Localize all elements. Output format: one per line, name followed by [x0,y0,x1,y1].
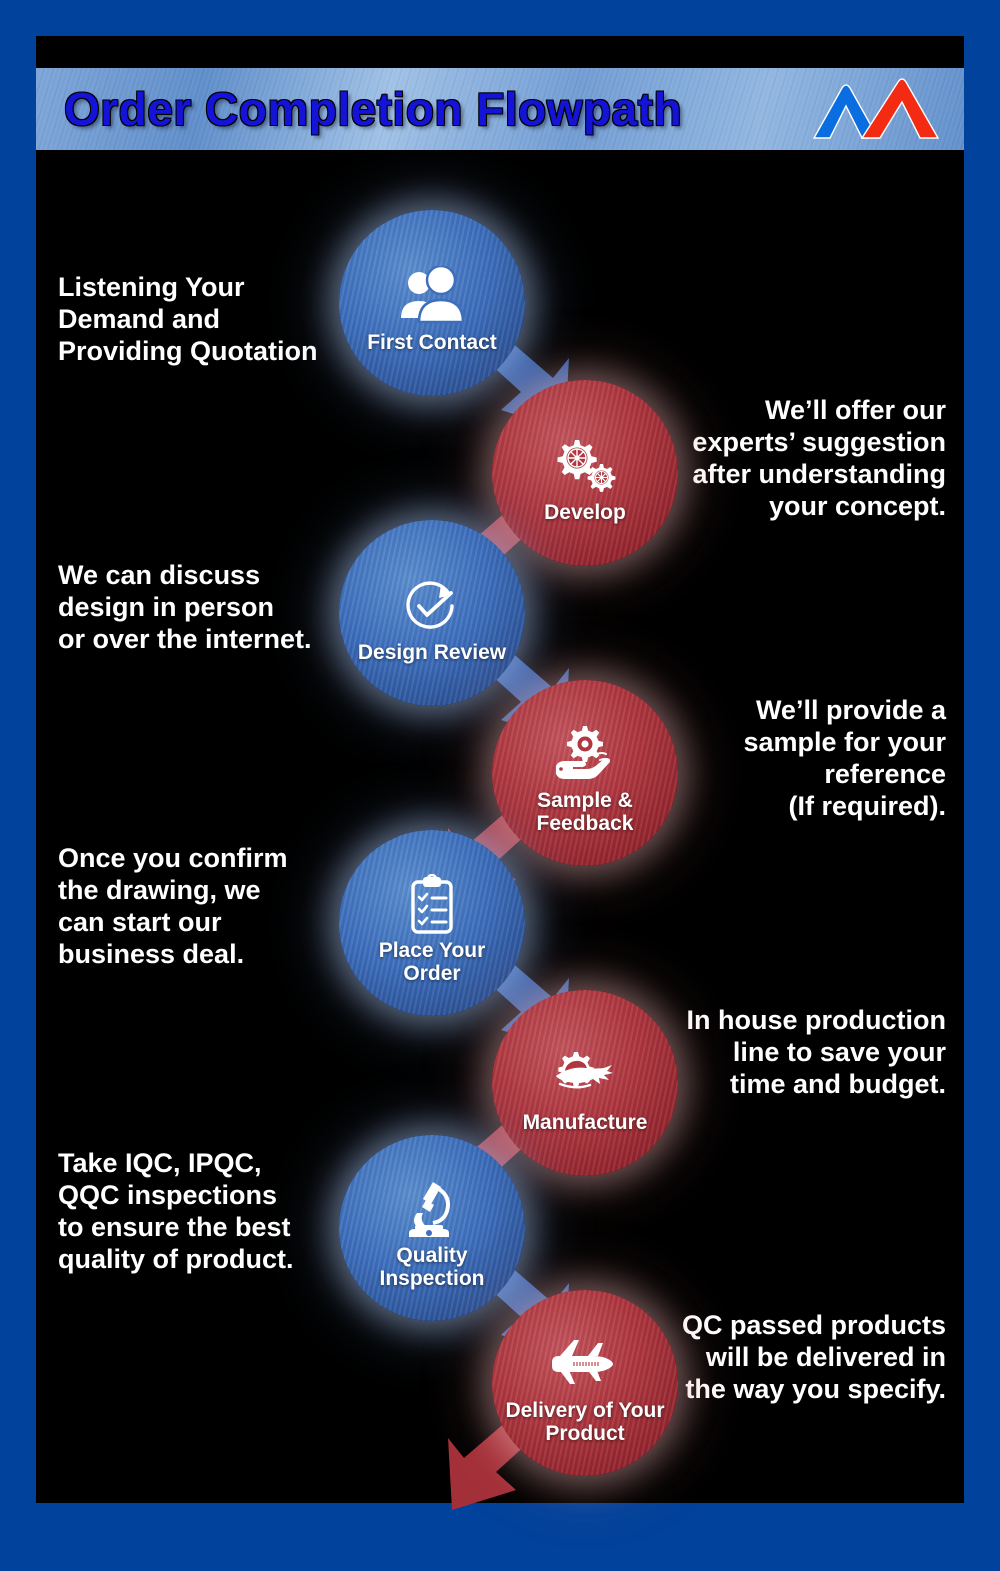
step-bubble[interactable]: Sample & Feedback [492,680,678,866]
step-bubble[interactable]: Place Your Order [339,830,525,1016]
step-label: Sample & Feedback [501,790,669,835]
clipboard-checklist-icon [395,874,469,936]
header-banner: Order Completion Flowpath [36,68,964,150]
flow-node-quality-inspection[interactable]: Quality Inspection [339,1135,525,1321]
step-bubble[interactable]: Quality Inspection [339,1135,525,1321]
company-mountain-logo [806,76,942,142]
poster-page: Order Completion Flowpath Listening Your… [0,0,1000,1571]
flow-node-delivery[interactable]: Delivery of Your Product [492,1290,678,1476]
flow-node-first-contact[interactable]: First Contact [339,210,525,396]
airplane-icon [548,1334,622,1396]
flow-node-develop[interactable]: Develop [492,380,678,566]
microscope-icon [395,1179,469,1241]
refresh-check-icon [395,576,469,638]
flow-diagram: Listening Your Demand and Providing Quot… [36,150,964,1467]
step-bubble[interactable]: Develop [492,380,678,566]
hand-holding-gear-icon [548,724,622,786]
step-label: Develop [544,502,626,525]
flow-node-manufacture[interactable]: Manufacture [492,990,678,1176]
step-label: Place Your Order [348,940,516,985]
step-label: Manufacture [523,1112,648,1135]
step-bubble[interactable]: Manufacture [492,990,678,1176]
flow-node-design-review[interactable]: Design Review [339,520,525,706]
step-label: First Contact [367,332,497,355]
gears-icon [548,436,622,498]
step-bubble[interactable]: Design Review [339,520,525,706]
flow-node-sample-feedback[interactable]: Sample & Feedback [492,680,678,866]
page-title: Order Completion Flowpath [64,82,682,136]
step-bubble[interactable]: Delivery of Your Product [492,1290,678,1476]
machine-gear-icon [548,1046,622,1108]
two-people-icon [395,266,469,328]
step-label: Design Review [358,642,506,665]
step-bubble[interactable]: First Contact [339,210,525,396]
flow-node-place-your-order[interactable]: Place Your Order [339,830,525,1016]
step-label: Quality Inspection [348,1245,516,1290]
step-label: Delivery of Your Product [501,1400,669,1445]
